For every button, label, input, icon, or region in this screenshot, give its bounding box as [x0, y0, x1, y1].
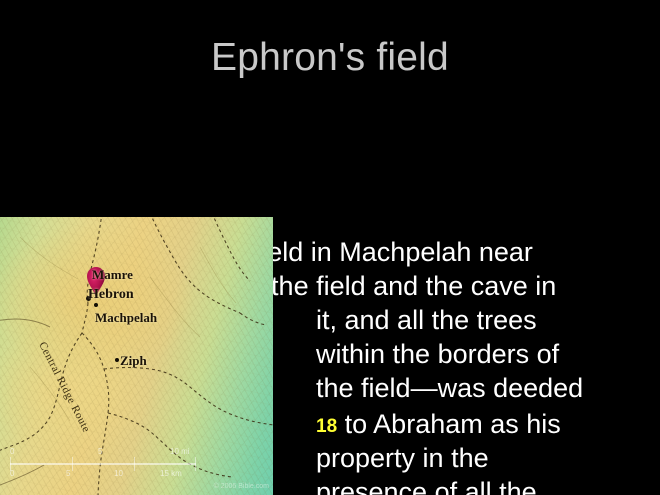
map-label-hebron: Hebron — [88, 287, 134, 303]
page-title: Ephron's field — [0, 36, 660, 80]
scale-tick-2 — [134, 457, 135, 471]
map-dot-machpelah — [94, 303, 98, 307]
scale-label-km-1: 5 — [66, 469, 70, 478]
body-line-7: property in the — [316, 444, 489, 473]
scale-tick-1 — [72, 457, 73, 471]
scale-label-mi-0: 0 — [10, 447, 14, 456]
map-label-ziph: Ziph — [120, 353, 147, 369]
scale-bar-rule — [10, 463, 196, 465]
map-label-mamre: Mamre — [92, 267, 133, 283]
map-scale-bar: 0 5 10 mi 0 5 10 15 km — [10, 447, 196, 487]
presentation-slide: Ephron's field 17. So Ephron's field in … — [0, 0, 660, 495]
scale-label-km-3: 15 km — [160, 469, 182, 478]
body-line-4: within the borders of — [316, 340, 559, 369]
map-dot-ziph — [115, 358, 119, 362]
scale-label-km-0: 0 — [10, 469, 14, 478]
body-line-6-text: to Abraham as his — [337, 409, 561, 439]
verse-number-18: 18 — [316, 416, 337, 437]
body-line-5: the field—was deeded — [316, 374, 583, 403]
map-image: Mamre Hebron Machpelah Ziph Central Ridg… — [0, 217, 273, 495]
body-line-8: presence of all the — [316, 478, 537, 495]
map-credit-text: © 2006 Bible.com — [214, 482, 269, 491]
body-line-3: it, and all the trees — [316, 306, 537, 335]
scale-label-mi-1: 5 — [98, 447, 102, 456]
scale-label-mi-2: 10 mi — [170, 447, 190, 456]
body-line-6: 18 to Abraham as his — [316, 410, 561, 441]
map-label-machpelah: Machpelah — [95, 310, 157, 326]
scale-tick-3 — [195, 457, 196, 471]
scale-label-km-2: 10 — [114, 469, 123, 478]
